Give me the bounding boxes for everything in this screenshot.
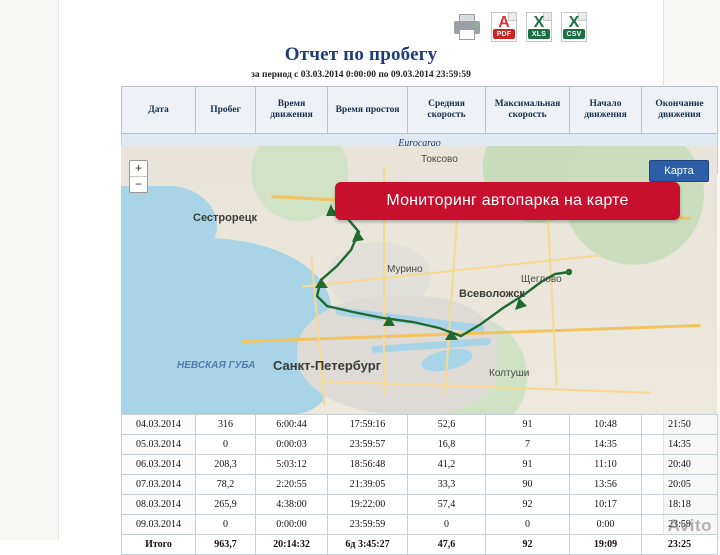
map-label-sestroretsk: Сестрорецк (193, 212, 257, 224)
map-label-vsevolozhsk: Всеволожск (459, 288, 525, 300)
cell-start-move: 0:00 (570, 515, 642, 535)
report-sheet: A PDF X XLS X CSV Отчет по пробегу за пе… (58, 0, 664, 540)
report-period: за период с 03.03.2014 0:00:00 по 09.03.… (59, 70, 663, 80)
cell-end-move: 20:05 (642, 475, 718, 495)
cell-start-move: 10:17 (570, 495, 642, 515)
cell-total-moving-time: 20:14:32 (256, 535, 328, 555)
cell-avg-speed: 52,6 (408, 415, 486, 435)
cell-avg-speed: 16,8 (408, 435, 486, 455)
table-total-row: Итого 963,7 20:14:32 6д 3:45:27 47,6 92 … (122, 535, 718, 555)
csv-glyph: X (562, 16, 586, 30)
cell-mileage: 316 (196, 415, 256, 435)
cell-start-move: 11:10 (570, 455, 642, 475)
cell-total-label: Итого (122, 535, 196, 555)
map-zoom-control[interactable]: + − (129, 160, 148, 193)
pdf-export-icon[interactable]: A PDF (491, 12, 517, 42)
csv-export-icon[interactable]: X CSV (561, 12, 587, 42)
cell-idle-time: 23:59:57 (328, 435, 408, 455)
cell-total-end-move: 23:25 (642, 535, 718, 555)
map-label-saint-petersburg: Санкт-Петербург (273, 358, 381, 373)
table-header-row: Дата Пробег Время движения Время простоя… (122, 87, 718, 134)
table-row: 06.03.2014 208,3 5:03:12 18:56:48 41,2 9… (122, 455, 718, 475)
col-max-speed[interactable]: Максимальная скорость (486, 87, 570, 134)
cell-end-move: 14:35 (642, 435, 718, 455)
cell-total-idle-time: 6д 3:45:27 (328, 535, 408, 555)
printer-led (475, 24, 478, 27)
cell-idle-time: 23:59:59 (328, 515, 408, 535)
col-end-move[interactable]: Окончание движения (642, 87, 718, 134)
cell-moving-time: 2:20:55 (256, 475, 328, 495)
map-canvas[interactable]: Сестрорецк Санкт-Петербург Всеволожск Юк… (121, 146, 717, 414)
map-label-koltushi: Колтуши (489, 368, 529, 379)
zoom-out-button[interactable]: − (130, 177, 147, 192)
cell-total-avg-speed: 47,6 (408, 535, 486, 555)
table-row: 08.03.2014 265,9 4:38:00 19:22:00 57,4 9… (122, 495, 718, 515)
export-toolbar[interactable]: A PDF X XLS X CSV (452, 12, 587, 42)
cell-start-move: 10:48 (570, 415, 642, 435)
pdf-glyph: A (492, 16, 516, 30)
cell-mileage: 208,3 (196, 455, 256, 475)
xls-tag: XLS (528, 29, 550, 39)
cell-start-move: 13:56 (570, 475, 642, 495)
promo-banner: Мониторинг автопарка на карте (335, 182, 680, 220)
xls-export-icon[interactable]: X XLS (526, 12, 552, 42)
cell-moving-time: 0:00:00 (256, 515, 328, 535)
cell-moving-time: 6:00:44 (256, 415, 328, 435)
cell-moving-time: 0:00:03 (256, 435, 328, 455)
cell-idle-time: 17:59:16 (328, 415, 408, 435)
cell-avg-speed: 0 (408, 515, 486, 535)
table-row: 09.03.2014 0 0:00:00 23:59:59 0 0 0:00 2… (122, 515, 718, 535)
cell-total-mileage: 963,7 (196, 535, 256, 555)
cell-max-speed: 90 (486, 475, 570, 495)
cell-mileage: 0 (196, 515, 256, 535)
cell-total-start-move: 19:09 (570, 535, 642, 555)
page-title: Отчет по пробегу (59, 44, 663, 66)
cell-max-speed: 7 (486, 435, 570, 455)
cell-idle-time: 18:56:48 (328, 455, 408, 475)
table-row: 05.03.2014 0 0:00:03 23:59:57 16,8 7 14:… (122, 435, 718, 455)
cell-avg-speed: 41,2 (408, 455, 486, 475)
cell-mileage: 0 (196, 435, 256, 455)
cell-avg-speed: 57,4 (408, 495, 486, 515)
map-panel[interactable]: Сестрорецк Санкт-Петербург Всеволожск Юк… (121, 146, 717, 414)
map-label-sheglovo: Щеглово (521, 274, 562, 285)
mileage-report-table-bottom: 04.03.2014 316 6:00:44 17:59:16 52,6 91 … (121, 414, 718, 555)
map-label-murino: Мурино (387, 264, 423, 275)
page-background: A PDF X XLS X CSV Отчет по пробегу за пе… (0, 0, 720, 540)
cell-date: 07.03.2014 (122, 475, 196, 495)
cell-end-move: 20:40 (642, 455, 718, 475)
table-row: 07.03.2014 78,2 2:20:55 21:39:05 33,3 90… (122, 475, 718, 495)
col-avg-speed[interactable]: Средняя скорость (408, 87, 486, 134)
map-tab-button[interactable]: Карта (649, 160, 709, 182)
cell-date: 09.03.2014 (122, 515, 196, 535)
zoom-in-button[interactable]: + (130, 161, 147, 177)
cell-avg-speed: 33,3 (408, 475, 486, 495)
col-idle-time[interactable]: Время простоя (328, 87, 408, 134)
cell-start-move: 14:35 (570, 435, 642, 455)
cell-end-move: 18:18 (642, 495, 718, 515)
cell-date: 05.03.2014 (122, 435, 196, 455)
cell-date: 04.03.2014 (122, 415, 196, 435)
cell-idle-time: 19:22:00 (328, 495, 408, 515)
map-label-toksovo: Токсово (421, 154, 458, 165)
cell-max-speed: 92 (486, 495, 570, 515)
table-row: 04.03.2014 316 6:00:44 17:59:16 52,6 91 … (122, 415, 718, 435)
col-date[interactable]: Дата (122, 87, 196, 134)
watermark: Avito (668, 516, 712, 536)
promo-banner-text: Мониторинг автопарка на карте (386, 192, 628, 210)
cell-total-max-speed: 92 (486, 535, 570, 555)
printer-paper (459, 29, 475, 40)
col-mileage[interactable]: Пробег (196, 87, 256, 134)
map-label-nevskaya-guba: НЕВСКАЯ ГУБА (177, 360, 255, 371)
csv-tag: CSV (563, 29, 585, 39)
col-moving-time[interactable]: Время движения (256, 87, 328, 134)
cell-date: 08.03.2014 (122, 495, 196, 515)
cell-max-speed: 0 (486, 515, 570, 535)
cell-end-move: 21:50 (642, 415, 718, 435)
cell-max-speed: 91 (486, 415, 570, 435)
cell-date: 06.03.2014 (122, 455, 196, 475)
print-icon[interactable] (452, 12, 482, 42)
cell-moving-time: 5:03:12 (256, 455, 328, 475)
pdf-tag: PDF (493, 29, 515, 39)
cell-mileage: 78,2 (196, 475, 256, 495)
cell-moving-time: 4:38:00 (256, 495, 328, 515)
xls-glyph: X (527, 16, 551, 30)
col-start-move[interactable]: Начало движения (570, 87, 642, 134)
cell-idle-time: 21:39:05 (328, 475, 408, 495)
cell-max-speed: 91 (486, 455, 570, 475)
cell-mileage: 265,9 (196, 495, 256, 515)
